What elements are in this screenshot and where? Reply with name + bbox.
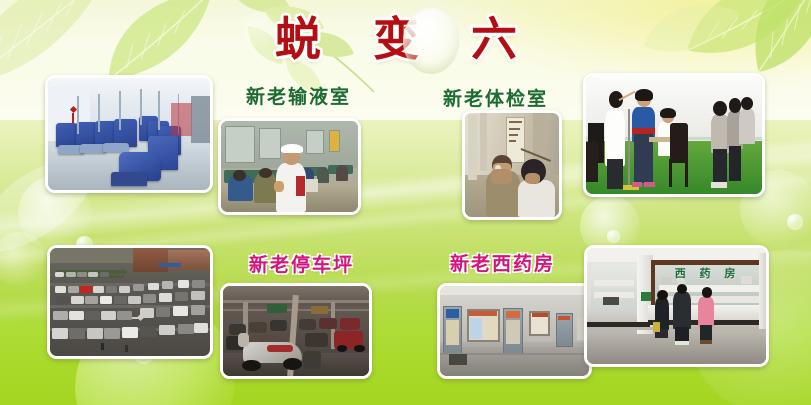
photo-new-pharmacy[interactable]: 西 药 房 [584,245,769,367]
photo-scene [440,286,589,376]
caption-pharmacy: 新老西药房 [450,253,555,275]
caption-infusion-room: 新老输液室 [246,86,351,108]
photo-old-infusion-room[interactable] [218,118,361,215]
photo-old-parking-lot[interactable] [220,283,372,379]
bubble-decoration [607,230,620,243]
photo-scene: 西 药 房 [587,248,766,364]
poster-canvas: 蜕 变 六 [0,0,811,405]
caption-physical-exam-room: 新老体检室 [443,88,548,110]
photo-old-physical-exam-room[interactable] [462,110,562,220]
photo-scene [48,78,210,190]
photo-new-physical-exam-room[interactable] [583,73,765,197]
photo-scene [221,121,358,212]
bubble-decoration [787,214,803,230]
photo-new-parking-lot[interactable] [47,245,213,359]
photo-scene [586,76,762,194]
caption-parking-lot: 新老停车坪 [249,254,354,276]
pharmacy-sign-text: 西 药 房 [675,268,741,280]
photo-scene [50,248,210,356]
photo-new-infusion-room[interactable] [45,75,213,193]
bubble-decoration [0,232,46,286]
page-title: 蜕 变 六 [240,8,570,70]
photo-scene [223,286,369,376]
photo-scene [465,113,559,217]
photo-old-pharmacy[interactable] [437,283,592,379]
